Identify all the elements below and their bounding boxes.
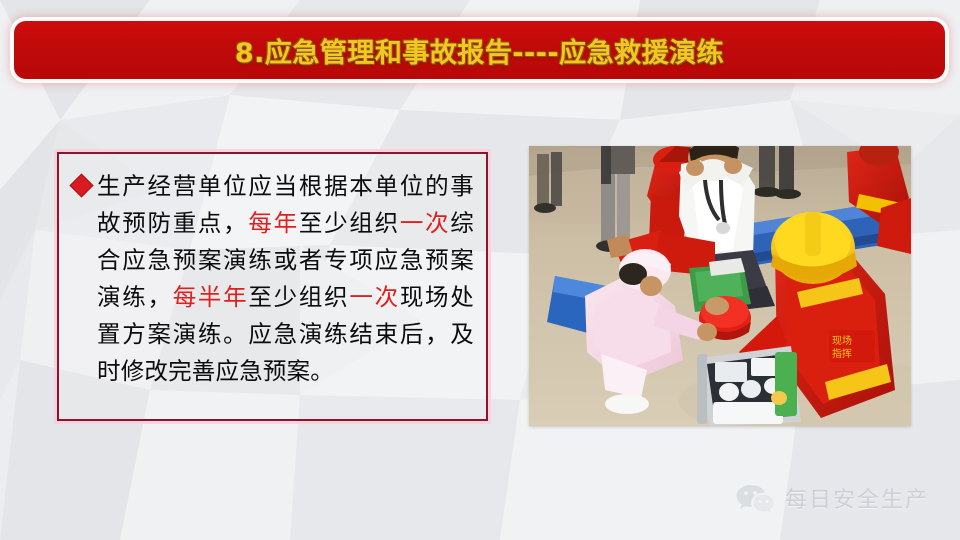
red-diamond-bullet-icon (69, 173, 93, 197)
content-text-box: 生产经营单位应当根据本单位的事故预防重点，每年至少组织一次综合应急预案演练或者专… (57, 152, 488, 421)
rescue-drill-photo-image: 现场 指挥 (529, 146, 911, 426)
highlighted-text-run: 一次 (349, 283, 399, 311)
highlighted-text-run: 一次 (400, 209, 450, 237)
bullet-row: 生产经营单位应当根据本单位的事故预防重点，每年至少组织一次综合应急预案演练或者专… (69, 168, 474, 390)
highlighted-text-run: 每半年 (173, 283, 249, 311)
rescue-drill-photo: 现场 指挥 (529, 146, 911, 426)
slide-title-bar: 8.应急管理和事故报告----应急救援演练 (14, 21, 945, 79)
watermark-text: 每日安全生产 (785, 482, 929, 514)
svg-text:指挥: 指挥 (832, 347, 852, 360)
slide-canvas: 8.应急管理和事故报告----应急救援演练 生产经营单位应当根据本单位的事故预防… (0, 0, 960, 540)
text-run: 至少组织 (299, 209, 400, 237)
text-run: 至少组织 (248, 283, 349, 311)
body-paragraph: 生产经营单位应当根据本单位的事故预防重点，每年至少组织一次综合应急预案演练或者专… (97, 168, 474, 390)
wechat-icon (735, 483, 775, 513)
highlighted-text-run: 每年 (248, 209, 298, 237)
svg-text:现场: 现场 (832, 334, 852, 347)
page-title: 8.应急管理和事故报告----应急救援演练 (235, 31, 724, 70)
watermark: 每日安全生产 (735, 482, 929, 514)
